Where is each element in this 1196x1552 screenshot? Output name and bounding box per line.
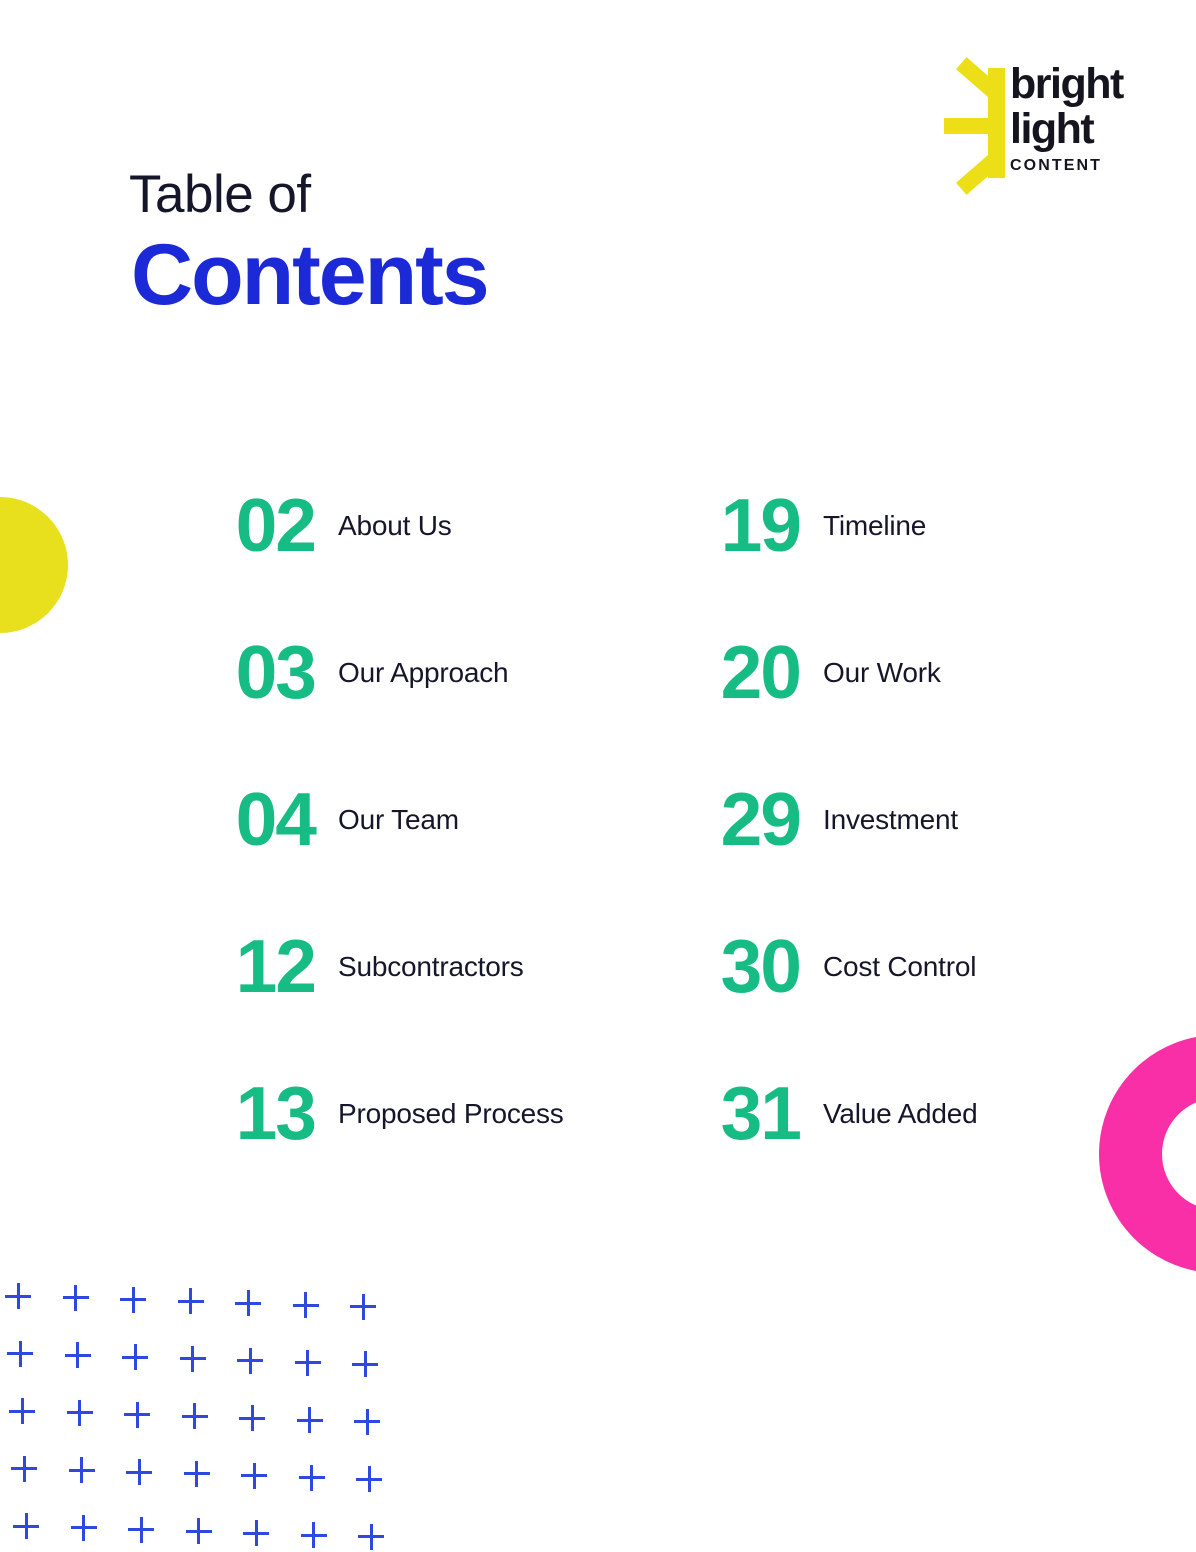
- contents-entry[interactable]: 04Our Team: [120, 746, 540, 893]
- plus-icon: [178, 1288, 204, 1314]
- contents-entry[interactable]: 02About Us: [120, 452, 540, 599]
- plus-pattern-row: [5, 1398, 405, 1428]
- plus-icon: [235, 1290, 261, 1316]
- plus-icon: [358, 1524, 384, 1550]
- contents-entry[interactable]: 19Timeline: [605, 452, 1025, 599]
- plus-icon: [122, 1344, 148, 1370]
- plus-icon: [243, 1520, 269, 1546]
- plus-icon: [293, 1292, 319, 1318]
- contents-entry[interactable]: 31Value Added: [605, 1040, 1025, 1187]
- contents-entry[interactable]: 30Cost Control: [605, 893, 1025, 1040]
- yellow-circle-shape: [0, 497, 68, 633]
- plus-icon: [120, 1287, 146, 1313]
- plus-icon: [239, 1405, 265, 1431]
- contents-entry-number: 04: [120, 782, 315, 857]
- plus-icon: [299, 1465, 325, 1491]
- contents-entry[interactable]: 13Proposed Process: [120, 1040, 540, 1187]
- plus-icon: [126, 1459, 152, 1485]
- plus-icon: [356, 1466, 382, 1492]
- plus-icon: [350, 1294, 376, 1320]
- plus-icon: [69, 1457, 95, 1483]
- contents-entry-number: 13: [120, 1076, 315, 1151]
- plus-icon: [65, 1342, 91, 1368]
- asterisk-arrow-icon: [944, 68, 1006, 178]
- contents-entry-label: Our Work: [823, 657, 941, 689]
- contents-entry-label: Our Approach: [338, 657, 508, 689]
- contents-entry-number: 30: [605, 929, 800, 1004]
- plus-icon: [5, 1283, 31, 1309]
- page-title-line-2: Contents: [131, 228, 488, 323]
- contents-entry-number: 31: [605, 1076, 800, 1151]
- contents-column-right: 19Timeline20Our Work29Investment30Cost C…: [605, 452, 1025, 1187]
- contents-column-left: 02About Us03Our Approach04Our Team12Subc…: [120, 452, 540, 1187]
- contents-entry-number: 29: [605, 782, 800, 857]
- plus-icon: [13, 1513, 39, 1539]
- plus-icon: [7, 1341, 33, 1367]
- contents-entry-label: Timeline: [823, 510, 926, 542]
- plus-icon: [124, 1402, 150, 1428]
- plus-pattern-row: [5, 1456, 405, 1486]
- contents-entry-number: 20: [605, 635, 800, 710]
- plus-icon: [186, 1518, 212, 1544]
- plus-icon: [301, 1522, 327, 1548]
- plus-icon: [352, 1351, 378, 1377]
- contents-entry-number: 03: [120, 635, 315, 710]
- contents-entry[interactable]: 12Subcontractors: [120, 893, 540, 1040]
- plus-pattern: [5, 1283, 405, 1552]
- plus-icon: [180, 1346, 206, 1372]
- plus-icon: [71, 1515, 97, 1541]
- contents-entry-number: 12: [120, 929, 315, 1004]
- brand-line-2: light: [1010, 107, 1130, 152]
- page-title: Table of Contents: [129, 166, 488, 323]
- contents-entry-label: Value Added: [823, 1098, 978, 1130]
- pink-ring-shape: [1099, 1035, 1196, 1273]
- contents-entry-label: Subcontractors: [338, 951, 524, 983]
- contents-entry-label: Our Team: [338, 804, 459, 836]
- contents-entry[interactable]: 29Investment: [605, 746, 1025, 893]
- contents-entry-label: About Us: [338, 510, 452, 542]
- contents-entry-label: Proposed Process: [338, 1098, 564, 1130]
- plus-icon: [241, 1463, 267, 1489]
- plus-icon: [297, 1407, 323, 1433]
- plus-pattern-row: [5, 1283, 405, 1313]
- contents-entry-number: 02: [120, 488, 315, 563]
- plus-icon: [354, 1409, 380, 1435]
- contents-entry[interactable]: 20Our Work: [605, 599, 1025, 746]
- plus-icon: [63, 1285, 89, 1311]
- brand-wordmark: bright light CONTENT: [1010, 62, 1130, 175]
- brand-subtitle: CONTENT: [1010, 157, 1130, 175]
- brand-logo: bright light CONTENT: [944, 62, 1130, 184]
- plus-icon: [182, 1403, 208, 1429]
- page-title-line-1: Table of: [129, 166, 488, 224]
- plus-icon: [11, 1456, 37, 1482]
- contents-entry-label: Cost Control: [823, 951, 976, 983]
- plus-icon: [184, 1461, 210, 1487]
- plus-icon: [9, 1398, 35, 1424]
- brand-line-1: bright: [1010, 62, 1130, 107]
- plus-icon: [237, 1348, 263, 1374]
- plus-pattern-row: [5, 1513, 405, 1543]
- plus-icon: [67, 1400, 93, 1426]
- contents-entry-number: 19: [605, 488, 800, 563]
- slide-table-of-contents: bright light CONTENT Table of Contents 0…: [0, 0, 1196, 1552]
- plus-icon: [128, 1517, 154, 1543]
- contents-entry-label: Investment: [823, 804, 958, 836]
- plus-pattern-row: [5, 1341, 405, 1371]
- plus-icon: [295, 1350, 321, 1376]
- contents-entry[interactable]: 03Our Approach: [120, 599, 540, 746]
